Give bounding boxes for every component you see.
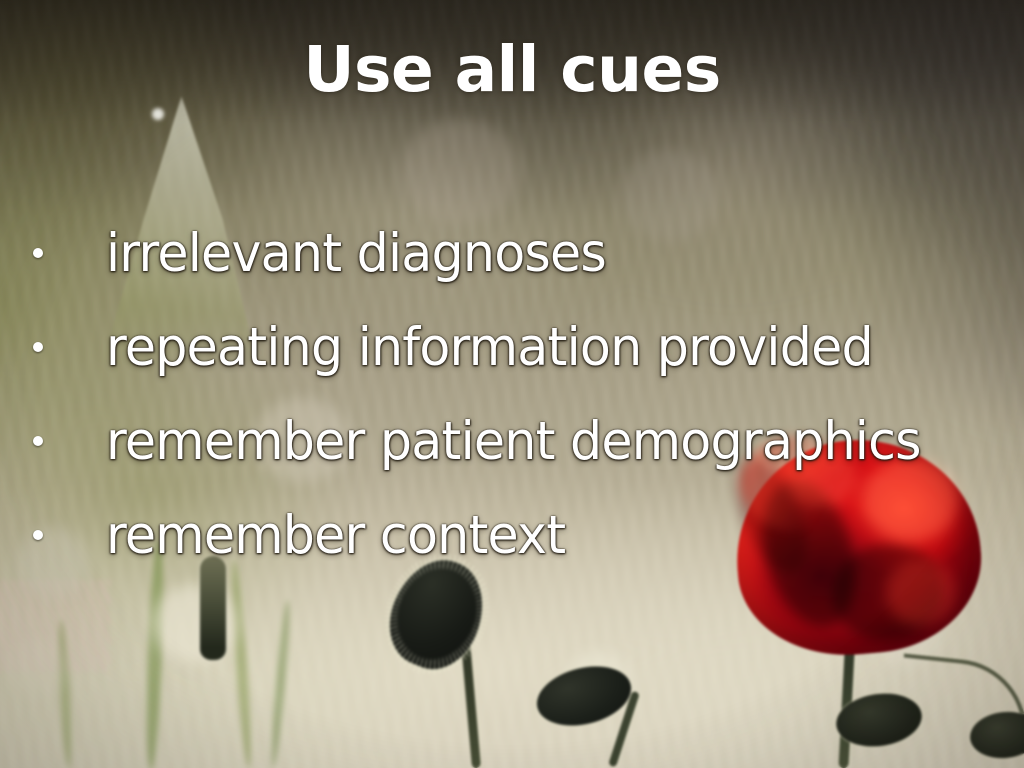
bullet-list: irrelevant diagnoses repeating informati… (0, 206, 1024, 582)
bullet-item-label: remember context (106, 509, 981, 562)
bullet-list-item: remember context (0, 488, 1024, 582)
presentation-slide: Use all cues irrelevant diagnoses repeat… (0, 0, 1024, 768)
bullet-dot-icon (33, 530, 43, 540)
slide-content: Use all cues irrelevant diagnoses repeat… (0, 0, 1024, 768)
bullet-dot-icon (33, 248, 43, 258)
bullet-list-item: irrelevant diagnoses (0, 206, 1024, 300)
bullet-dot-icon (33, 436, 43, 446)
slide-title: Use all cues (0, 38, 1024, 101)
bullet-list-item: repeating information provided (0, 300, 1024, 394)
bullet-item-label: remember patient demographics (106, 415, 981, 468)
bullet-dot-icon (33, 342, 43, 352)
bullet-list-item: remember patient demographics (0, 394, 1024, 488)
bullet-item-label: irrelevant diagnoses (106, 227, 981, 280)
bullet-item-label: repeating information provided (106, 321, 981, 374)
